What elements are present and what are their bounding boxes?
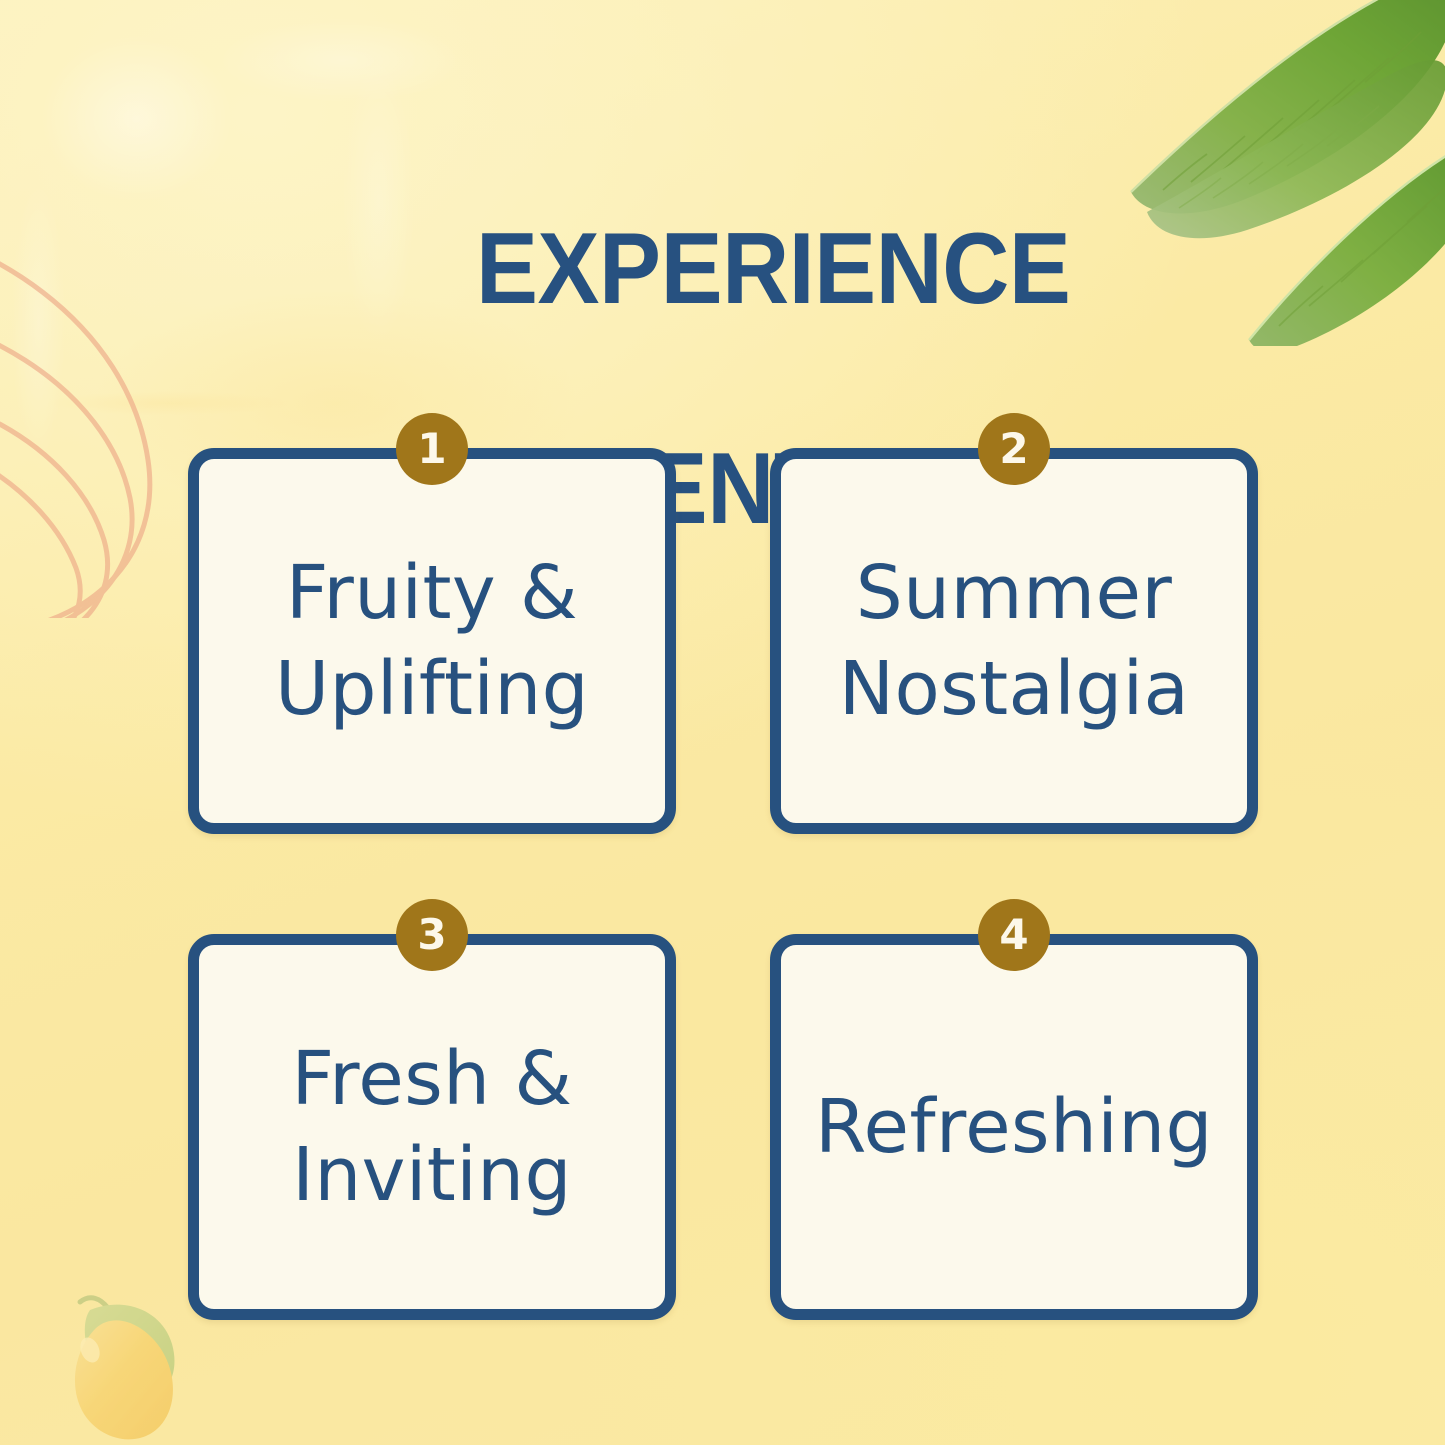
page-title-line-1: EXPERIENCE <box>476 213 1070 325</box>
vibe-card-4-label: Refreshing <box>797 1079 1231 1175</box>
vibe-card-2-badge: 2 <box>978 413 1050 485</box>
vibe-card-1-badge: 1 <box>396 413 468 485</box>
vibe-card-2-label: Summer Nostalgia <box>821 545 1208 737</box>
vibe-card-4[interactable]: 4 Refreshing <box>770 934 1258 1320</box>
vibe-card-1[interactable]: 1 Fruity & Uplifting <box>188 448 676 834</box>
vibe-card-2[interactable]: 2 Summer Nostalgia <box>770 448 1258 834</box>
vibe-card-3[interactable]: 3 Fresh & Inviting <box>188 934 676 1320</box>
vibes-card-grid: 1 Fruity & Uplifting 2 Summer Nostalgia … <box>188 448 1258 1320</box>
vibe-card-4-badge: 4 <box>978 899 1050 971</box>
vibe-card-3-label: Fresh & Inviting <box>274 1031 591 1223</box>
vibe-card-1-label: Fruity & Uplifting <box>257 545 607 737</box>
poster-canvas: EXPERIENCE DIFFERENT VIBES 1 Fruity & Up… <box>0 0 1445 1445</box>
vibe-card-3-badge: 3 <box>396 899 468 971</box>
